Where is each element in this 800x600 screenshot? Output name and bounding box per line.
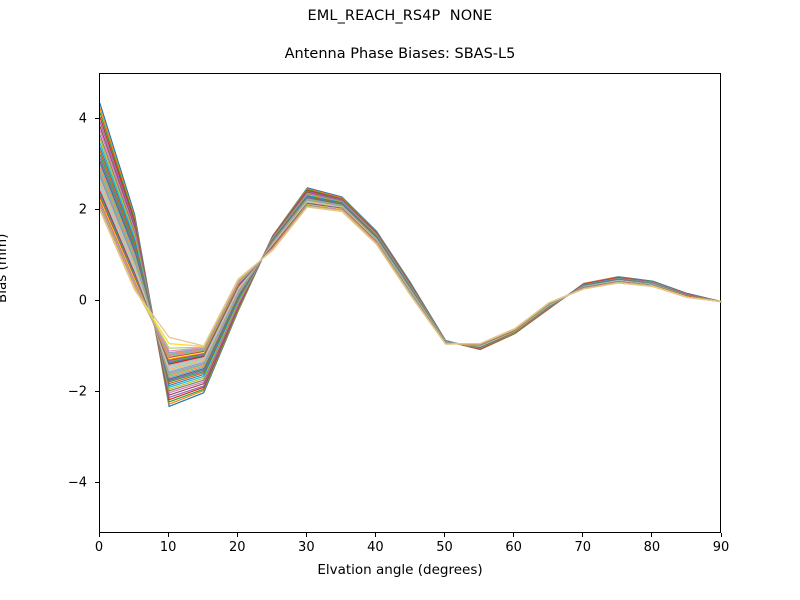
x-tick-label: 50 [415,540,475,555]
x-tick-label: 90 [691,540,751,555]
x-tick-label: 10 [138,540,198,555]
data-line [100,180,722,371]
plot-axes [99,73,721,533]
data-line [100,189,722,365]
data-line [100,162,722,379]
data-line [100,207,722,346]
y-tick-label: 2 [27,202,87,217]
y-tick-label: 4 [27,111,87,126]
x-tick-label: 20 [207,540,267,555]
data-line [100,182,722,369]
y-axis-label: Bias (mm) [0,234,10,303]
y-tick-label: −4 [27,475,87,490]
x-tick-label: 70 [553,540,613,555]
data-line [100,185,722,369]
data-line [100,171,722,375]
y-tick-label: 0 [27,293,87,308]
data-line [100,207,722,349]
x-axis-label: Elvation angle (degrees) [0,562,800,578]
x-tick-label: 60 [484,540,544,555]
y-tick-label: −2 [27,384,87,399]
figure-suptitle: EML_REACH_RS4P NONE [0,8,800,24]
x-tick-label: 80 [622,540,682,555]
line-series-group [100,74,722,534]
x-tick-label: 40 [345,540,405,555]
data-line [100,187,722,367]
x-tick-label: 30 [276,540,336,555]
data-line [100,207,722,346]
x-tick-label: 0 [69,540,129,555]
chart-title: Antenna Phase Biases: SBAS-L5 [0,46,800,62]
figure-canvas: EML_REACH_RS4P NONE Antenna Phase Biases… [0,0,800,600]
